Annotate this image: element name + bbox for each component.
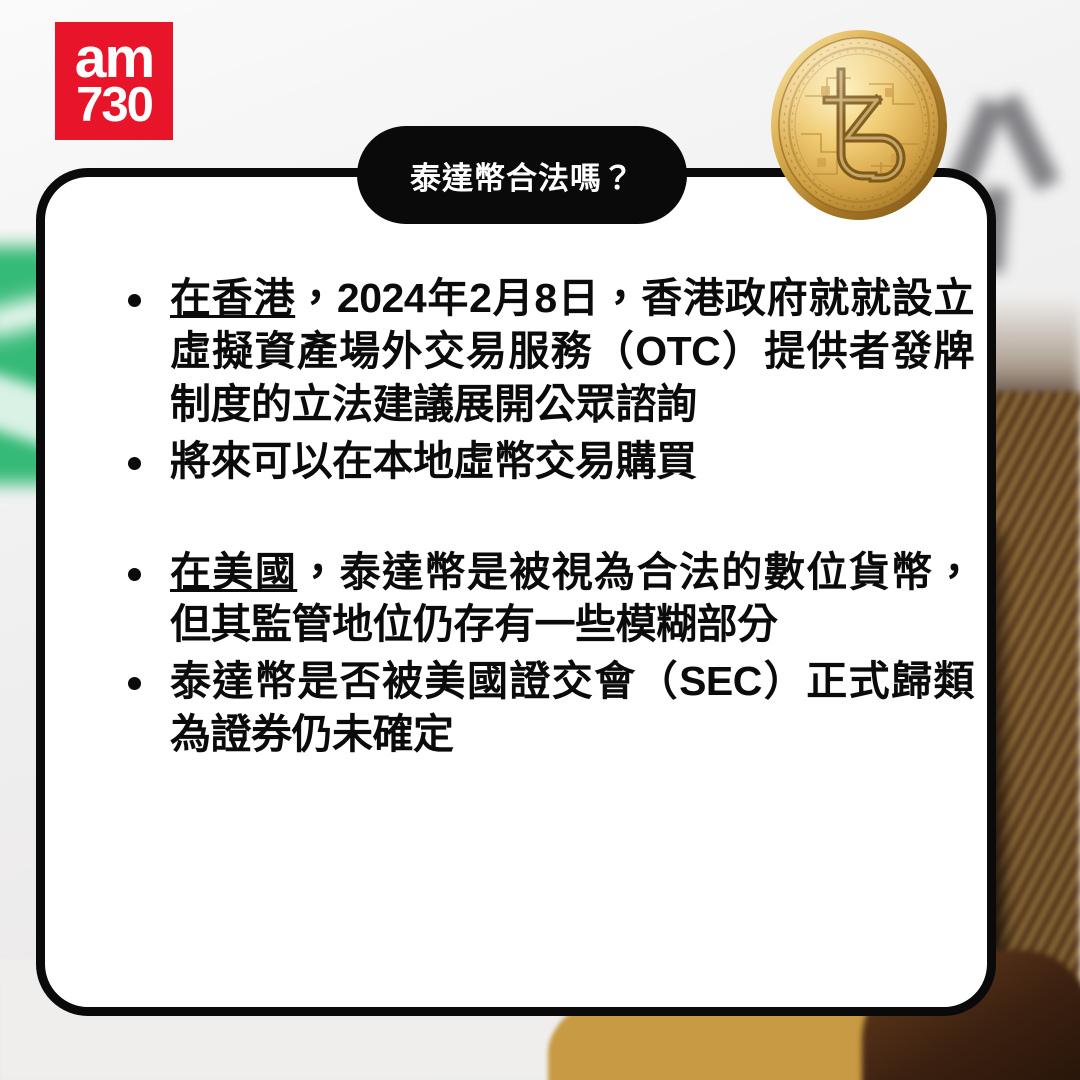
content-card (36, 168, 996, 1016)
logo-text-am: am (75, 34, 153, 83)
am730-logo: am 730 (55, 22, 173, 140)
poster-canvas: am 730 (0, 0, 1080, 1080)
tezos-gold-coin-icon: ꜩ (765, 26, 953, 222)
logo-text-730: 730 (76, 84, 152, 126)
title-pill: 泰達幣合法嗎？ (357, 126, 687, 224)
page-title: 泰達幣合法嗎？ (410, 153, 634, 198)
